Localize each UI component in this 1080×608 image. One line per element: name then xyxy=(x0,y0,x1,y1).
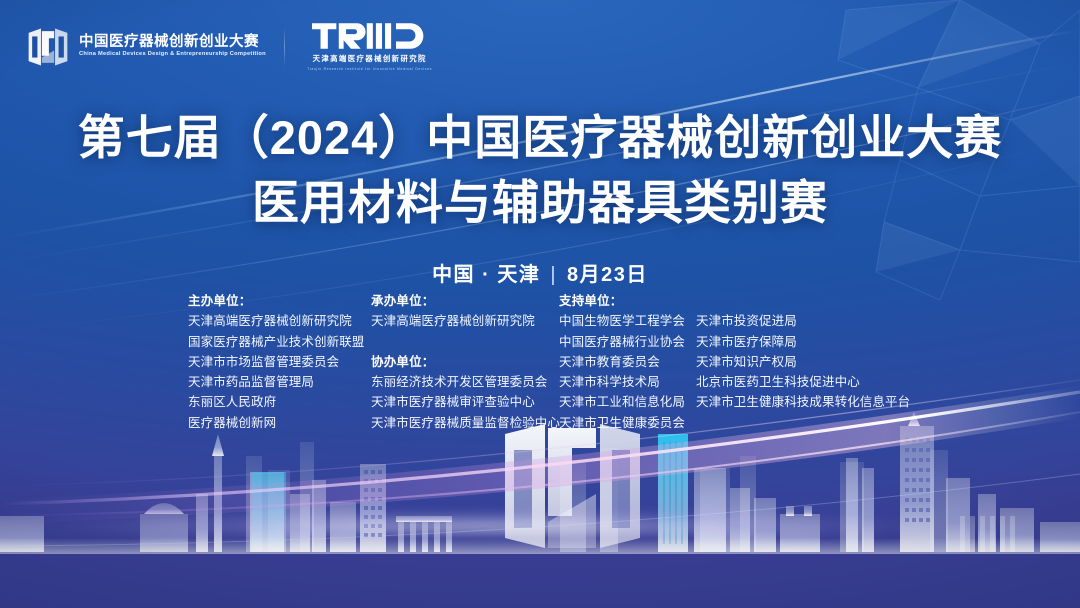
institute-logo-cn: 天津高端医疗器械创新研究院 xyxy=(313,53,427,64)
title-line-2: 医用材料与辅助器具类别赛 xyxy=(0,177,1080,230)
institute-logo-en: Tianjin Research Institute for Innovativ… xyxy=(307,67,432,71)
event-subtitle: 中国 · 天津|8月23日 xyxy=(0,258,1080,287)
host-item: 医疗器械创新网 xyxy=(188,413,371,433)
host-item: 东丽区人民政府 xyxy=(188,392,371,412)
supporter-item: 天津市知识产权局 xyxy=(696,352,896,372)
organizers-column-supporters: 支持单位： 中国生物医学工程学会 中国医疗器械行业协会 天津市教育委员会 天津市… xyxy=(559,291,896,433)
coorganizer-title: 协办单位： xyxy=(371,352,559,372)
poster-canvas: 中国医疗器械创新创业大赛 China Medical Devices Desig… xyxy=(0,0,1080,608)
host-item: 天津市市场监督管理委员会 xyxy=(188,352,371,372)
coorganizer-item: 东丽经济技术开发区管理委员会 xyxy=(371,372,559,392)
coorganizer-item: 天津市医疗器械审评查验中心 xyxy=(371,392,559,412)
organizer-item: 天津高端医疗器械创新研究院 xyxy=(371,311,559,331)
host-item: 天津市药品监督管理局 xyxy=(188,372,371,392)
open-door-icon xyxy=(26,25,70,69)
main-title: 第七届（2024）中国医疗器械创新创业大赛 医用材料与辅助器具类别赛 xyxy=(0,112,1080,229)
host-title: 主办单位： xyxy=(188,291,371,311)
supporter-item: 天津市投资促进局 xyxy=(696,311,896,331)
event-place: 中国 · 天津 xyxy=(432,264,540,286)
event-date: 8月23日 xyxy=(567,264,648,286)
supporter-item: 中国医疗器械行业协会 xyxy=(559,332,696,352)
skyline-ground-glow xyxy=(0,512,1080,536)
institute-logo: 天津高端医疗器械创新研究院 Tianjin Research Institute… xyxy=(307,22,432,71)
supporters-title: 支持单位： xyxy=(559,291,896,311)
supporter-item: 天津市工业和信息化局 xyxy=(559,392,696,412)
organizer-gap xyxy=(371,332,559,352)
organizer-title: 承办单位： xyxy=(371,291,559,311)
host-item: 天津高端医疗器械创新研究院 xyxy=(188,311,371,331)
subtitle-separator: | xyxy=(550,264,557,287)
supporter-item: 天津市卫生健康委员会 xyxy=(559,413,696,433)
supporters-sub-right: 天津市投资促进局 天津市医疗保障局 天津市知识产权局 北京市医药卫生科技促进中心… xyxy=(696,311,896,433)
organizers-block: 主办单位： 天津高端医疗器械创新研究院 国家医疗器械产业技术创新联盟 天津市市场… xyxy=(188,291,896,433)
supporter-item: 天津市卫生健康科技成果转化信息平台 xyxy=(696,392,896,412)
title-line-1: 第七届（2024）中国医疗器械创新创业大赛 xyxy=(0,112,1080,165)
competition-logo-cn: 中国医疗器械创新创业大赛 xyxy=(79,35,262,50)
organizers-column-host: 主办单位： 天津高端医疗器械创新研究院 国家医疗器械产业技术创新联盟 天津市市场… xyxy=(188,291,371,433)
center-landmark xyxy=(505,424,640,548)
logo-divider xyxy=(284,27,285,67)
organizers-column-organizer: 承办单位： 天津高端医疗器械创新研究院 协办单位： 东丽经济技术开发区管理委员会… xyxy=(371,291,559,433)
supporters-sub-left: 中国生物医学工程学会 中国医疗器械行业协会 天津市教育委员会 天津市科学技术局 … xyxy=(559,311,696,433)
competition-logo: 中国医疗器械创新创业大赛 China Medical Devices Desig… xyxy=(26,25,262,69)
supporter-item: 天津市医疗保障局 xyxy=(696,332,896,352)
competition-logo-en: China Medical Devices Design & Entrepren… xyxy=(79,52,266,58)
supporter-item: 天津市教育委员会 xyxy=(559,352,696,372)
header-logos: 中国医疗器械创新创业大赛 China Medical Devices Desig… xyxy=(26,22,432,71)
coorganizer-item: 天津市医疗器械质量监督检验中心 xyxy=(371,413,559,433)
supporter-item: 天津市科学技术局 xyxy=(559,372,696,392)
supporter-item: 北京市医药卫生科技促进中心 xyxy=(696,372,896,392)
host-item: 国家医疗器械产业技术创新联盟 xyxy=(188,332,371,352)
supporter-item: 中国生物医学工程学会 xyxy=(559,311,696,331)
triid-wordmark-icon xyxy=(312,22,428,50)
